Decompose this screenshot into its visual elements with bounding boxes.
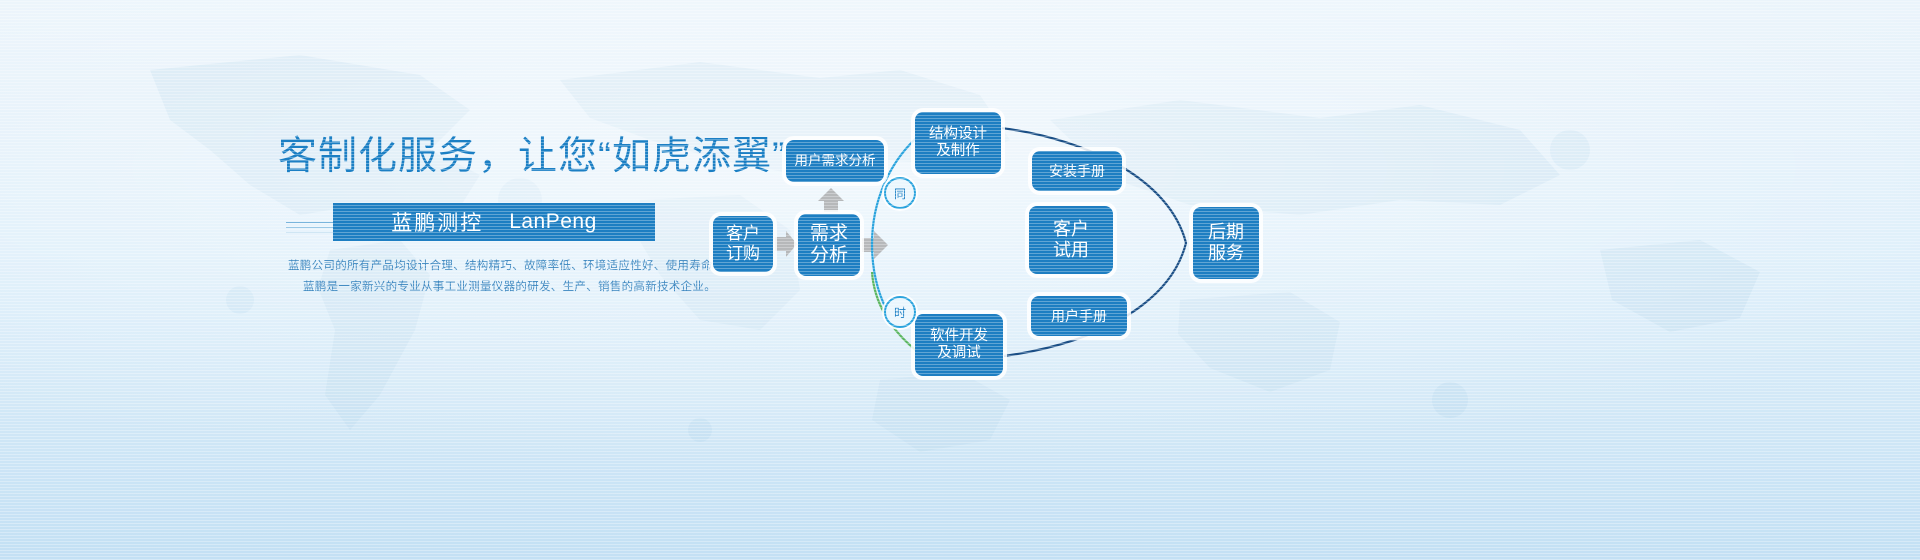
flow-node-customer-trial-line2: 试用 [1053, 240, 1089, 261]
flow-node-requirement-line2: 分析 [810, 245, 848, 267]
flow-node-user-manual-label: 用户手册 [1051, 308, 1107, 325]
flow-node-customer-order-line1: 客户 [726, 224, 760, 244]
flow-node-software-line2: 及调试 [930, 345, 988, 362]
flow-node-software-line1: 软件开发 [930, 328, 988, 345]
flow-node-install-manual-label: 安装手册 [1049, 163, 1105, 180]
flow-node-requirement-line1: 需求 [810, 223, 848, 245]
flow-node-user-manual[interactable]: 用户手册 [1031, 296, 1127, 336]
flow-node-structure-line2: 及制作 [929, 143, 987, 160]
badge-simultaneous-tong: 同 [884, 177, 916, 209]
flow-node-structure-design[interactable]: 结构设计 及制作 [915, 112, 1001, 174]
badge-shi-label: 时 [894, 304, 906, 321]
flow-connectors [0, 0, 1920, 560]
flow-node-customer-order-line2: 订购 [726, 244, 760, 264]
arrow-order-to-requirement [775, 231, 797, 257]
banner-stage: 客制化服务，让您“如虎添翼” 蓝鹏测控 LanPeng 蓝鹏公司的所有产品均设计… [0, 0, 1920, 560]
flow-node-customer-order[interactable]: 客户 订购 [713, 216, 773, 272]
flow-node-user-analysis[interactable]: 用户需求分析 [786, 140, 884, 182]
badge-simultaneous-shi: 时 [884, 296, 916, 328]
flow-node-customer-trial[interactable]: 客户 试用 [1029, 206, 1113, 274]
arrow-requirement-to-arc [862, 231, 888, 259]
flow-node-after-service[interactable]: 后期 服务 [1193, 207, 1259, 279]
flow-node-software-development[interactable]: 软件开发 及调试 [915, 314, 1003, 376]
flow-node-install-manual[interactable]: 安装手册 [1032, 151, 1122, 191]
flow-node-structure-line1: 结构设计 [929, 126, 987, 143]
badge-tong-label: 同 [894, 185, 906, 202]
flow-node-requirement-analysis[interactable]: 需求 分析 [798, 214, 860, 276]
flow-node-customer-trial-line1: 客户 [1053, 219, 1089, 240]
flow-node-user-analysis-label: 用户需求分析 [795, 153, 876, 169]
flow-node-after-service-line1: 后期 [1208, 222, 1244, 243]
flow-node-after-service-line2: 服务 [1208, 243, 1244, 264]
arrow-requirement-to-user-analysis [818, 188, 844, 212]
